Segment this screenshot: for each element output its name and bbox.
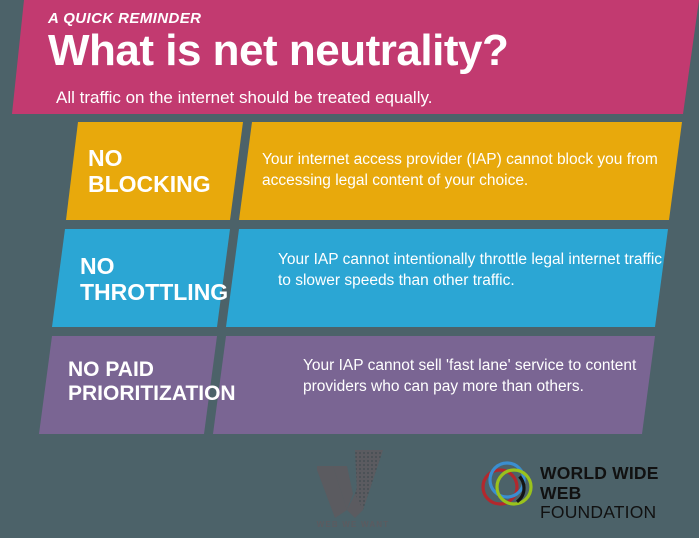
overlapping-rings-icon — [478, 458, 536, 516]
principle-row-prioritization: NO PAID PRIORITIZATION Your IAP cannot s… — [0, 336, 699, 436]
web-we-want-logo: WEB WE WANT — [303, 448, 403, 538]
row-prioritization-label-line2: PRIORITIZATION — [68, 382, 236, 406]
web-foundation-wordmark: WORLD WIDE WEB FOUNDATION — [540, 464, 683, 523]
infographic-canvas: A QUICK REMINDER What is net neutrality?… — [0, 0, 699, 538]
row-throttling-label: NO THROTTLING — [80, 253, 228, 305]
web-foundation-logo: WORLD WIDE WEB FOUNDATION — [478, 458, 683, 520]
row-prioritization-label-line1: NO PAID — [68, 358, 236, 382]
web-we-want-caption: WEB WE WANT — [303, 520, 403, 529]
header-subhead: All traffic on the internet should be tr… — [56, 88, 432, 108]
header-banner: A QUICK REMINDER What is net neutrality?… — [0, 0, 699, 118]
header-kicker: A QUICK REMINDER — [48, 10, 201, 27]
header-text-group: A QUICK REMINDER What is net neutrality?… — [0, 0, 699, 118]
row-throttling-description: Your IAP cannot intentionally throttle l… — [278, 250, 668, 291]
row-blocking-label-line2: BLOCKING — [88, 171, 211, 197]
row-throttling-label-line1: NO — [80, 253, 228, 279]
principle-row-throttling: NO THROTTLING Your IAP cannot intentiona… — [0, 229, 699, 329]
principle-row-blocking: NO BLOCKING Your internet access provide… — [0, 122, 699, 222]
web-foundation-line1: WORLD WIDE WEB — [540, 464, 683, 503]
page-title: What is net neutrality? — [48, 28, 508, 74]
row-prioritization-label: NO PAID PRIORITIZATION — [68, 358, 236, 406]
footer-logos: WEB WE WANT WORLD WIDE WEB FOUNDATION — [0, 440, 699, 538]
row-blocking-label-line1: NO — [88, 145, 211, 171]
row-throttling-label-line2: THROTTLING — [80, 279, 228, 305]
row-prioritization-description: Your IAP cannot sell 'fast lane' service… — [303, 356, 663, 397]
row-blocking-label: NO BLOCKING — [88, 145, 211, 197]
w-monogram-icon — [303, 448, 403, 520]
row-blocking-description: Your internet access provider (IAP) cann… — [262, 150, 662, 191]
web-foundation-line2: FOUNDATION — [540, 503, 683, 523]
